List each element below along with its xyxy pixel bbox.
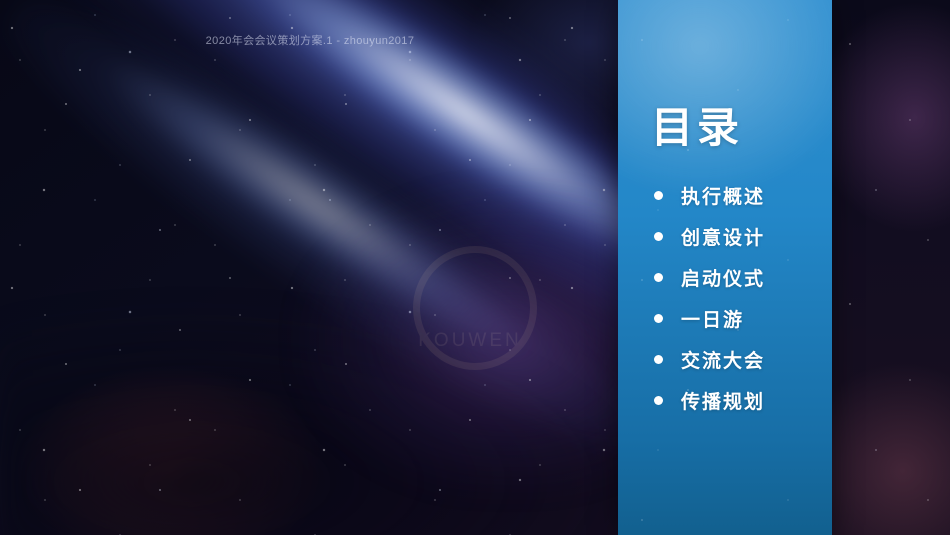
toc-item-label: 一日游 — [681, 305, 744, 332]
toc-item-6[interactable]: 传播规划 — [654, 380, 832, 421]
toc-item-label: 执行概述 — [681, 182, 765, 209]
toc-item-5[interactable]: 交流大会 — [654, 339, 832, 380]
toc-item-label: 交流大会 — [681, 346, 765, 373]
bullet-dot-icon — [654, 396, 663, 405]
right-strip-stars — [832, 0, 950, 535]
toc-item-1[interactable]: 执行概述 — [654, 175, 832, 216]
bullet-dot-icon — [654, 314, 663, 323]
panel-content: 目录 执行概述 创意设计 启动仪式 一日游 — [618, 0, 832, 535]
toc-item-label: 启动仪式 — [681, 264, 765, 291]
toc-item-label: 创意设计 — [681, 223, 765, 250]
toc-item-3[interactable]: 启动仪式 — [654, 257, 832, 298]
bullet-dot-icon — [654, 232, 663, 241]
toc-list: 执行概述 创意设计 启动仪式 一日游 交流大会 — [654, 175, 832, 421]
bullet-dot-icon — [654, 355, 663, 364]
bullet-dot-icon — [654, 273, 663, 282]
toc-item-4[interactable]: 一日游 — [654, 298, 832, 339]
page-title: 目录 — [651, 107, 743, 149]
slide-canvas: KOUWEN 2020年会会议策划方案.1 - zhouyun2017 目录 执… — [0, 0, 950, 535]
bullet-dot-icon — [654, 191, 663, 200]
toc-item-label: 传播规划 — [681, 387, 765, 414]
table-of-contents-panel: 目录 执行概述 创意设计 启动仪式 一日游 — [618, 0, 832, 535]
toc-item-2[interactable]: 创意设计 — [654, 216, 832, 257]
document-title-note: 2020年会会议策划方案.1 - zhouyun2017 — [0, 32, 620, 48]
right-background-strip — [832, 0, 950, 535]
